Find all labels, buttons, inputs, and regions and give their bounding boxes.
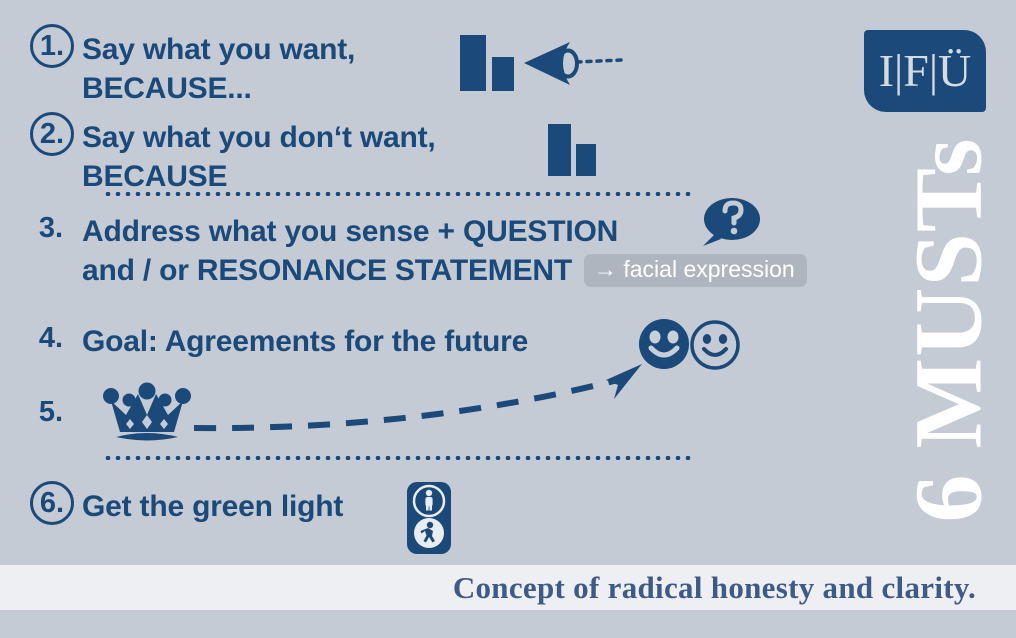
crown-icon	[100, 382, 194, 444]
dashed-arrow-icon	[190, 358, 650, 448]
item-3-text-line2: and / or RESONANCE STATEMENT	[82, 251, 572, 290]
ifu-logo: I|F|Ü	[864, 30, 986, 112]
pedestrian-traffic-light-icon	[405, 480, 453, 556]
facial-expression-badge: → facial expression	[584, 254, 807, 287]
list-item-5: 5.	[20, 396, 82, 429]
item-number-5: 5.	[20, 396, 82, 429]
divider-dotted-1	[103, 192, 691, 196]
bar-chart-icon	[546, 122, 596, 176]
item-number-6: 6.	[20, 487, 82, 520]
item-4-text: Goal: Agreements for the future	[82, 322, 528, 361]
eye-icon	[518, 38, 623, 90]
list-item-1: 1. Say what you want, BECAUSE...	[20, 30, 355, 108]
item-number-2-label: 2.	[38, 118, 64, 151]
divider-dotted-2	[103, 456, 691, 460]
list-item-4: 4. Goal: Agreements for the future	[20, 322, 528, 361]
list-item-3: 3. Address what you sense + QUESTION and…	[20, 212, 807, 290]
item-number-3: 3.	[20, 212, 82, 245]
item-6-text: Get the green light	[82, 487, 343, 526]
vertical-title: 6 MUSTs	[878, 105, 1016, 555]
vertical-title-text: 6 MUSTs	[900, 138, 996, 523]
smiley-outline-icon	[690, 320, 742, 370]
item-number-4: 4.	[20, 322, 82, 355]
footer-caption: Concept of radical honesty and clarity.	[0, 565, 976, 610]
item-number-1-label: 1.	[38, 30, 64, 63]
item-1-text: Say what you want, BECAUSE...	[82, 30, 355, 108]
item-number-2: 2.	[20, 118, 82, 151]
bar-chart-icon	[458, 33, 514, 91]
list-item-2: 2. Say what you don‘t want, BECAUSE	[20, 118, 436, 196]
ifu-logo-text: I|F|Ü	[879, 48, 972, 94]
poster-canvas: I|F|Ü 6 MUSTs 1. Say what you want, BECA…	[0, 0, 1016, 638]
item-2-text: Say what you don‘t want, BECAUSE	[82, 118, 436, 196]
speech-bubble-question-icon	[697, 196, 763, 250]
item-number-6-label: 6.	[38, 487, 64, 520]
item-number-1: 1.	[20, 30, 82, 63]
list-item-6: 6. Get the green light	[20, 487, 343, 526]
